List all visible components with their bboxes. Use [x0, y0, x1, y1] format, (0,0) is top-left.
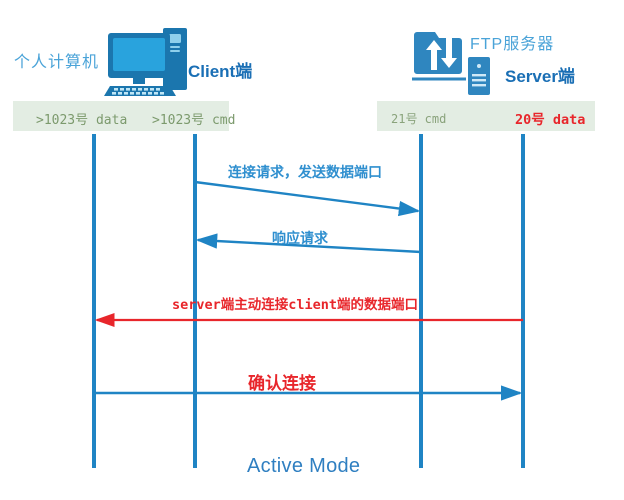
- server-name-label: FTP服务器: [470, 30, 554, 54]
- diagram-title: Active Mode: [247, 455, 360, 478]
- desktop-computer-icon: [104, 28, 187, 96]
- client-role-label: Client端: [188, 57, 252, 82]
- diagram-canvas: >1023号 data >1023号 cmd 21号 cmd 20号 data …: [0, 0, 624, 500]
- server-cmd-port-label: 21号 cmd: [391, 110, 446, 127]
- client-cmd-port-label: >1023号 cmd: [152, 109, 235, 128]
- client-name-label: 个人计算机: [14, 48, 99, 72]
- message-label-3: server端主动连接client端的数据端口: [172, 293, 418, 313]
- message-label-2: 响应请求: [272, 228, 328, 248]
- message-label-1: 连接请求，发送数据端口: [228, 162, 382, 182]
- server-data-port-label: 20号 data: [515, 108, 585, 128]
- message-label-4: 确认连接: [248, 369, 316, 394]
- server-role-label: Server端: [505, 62, 575, 87]
- message-arrow-1: [195, 182, 418, 211]
- client-data-port-label: >1023号 data: [36, 109, 127, 128]
